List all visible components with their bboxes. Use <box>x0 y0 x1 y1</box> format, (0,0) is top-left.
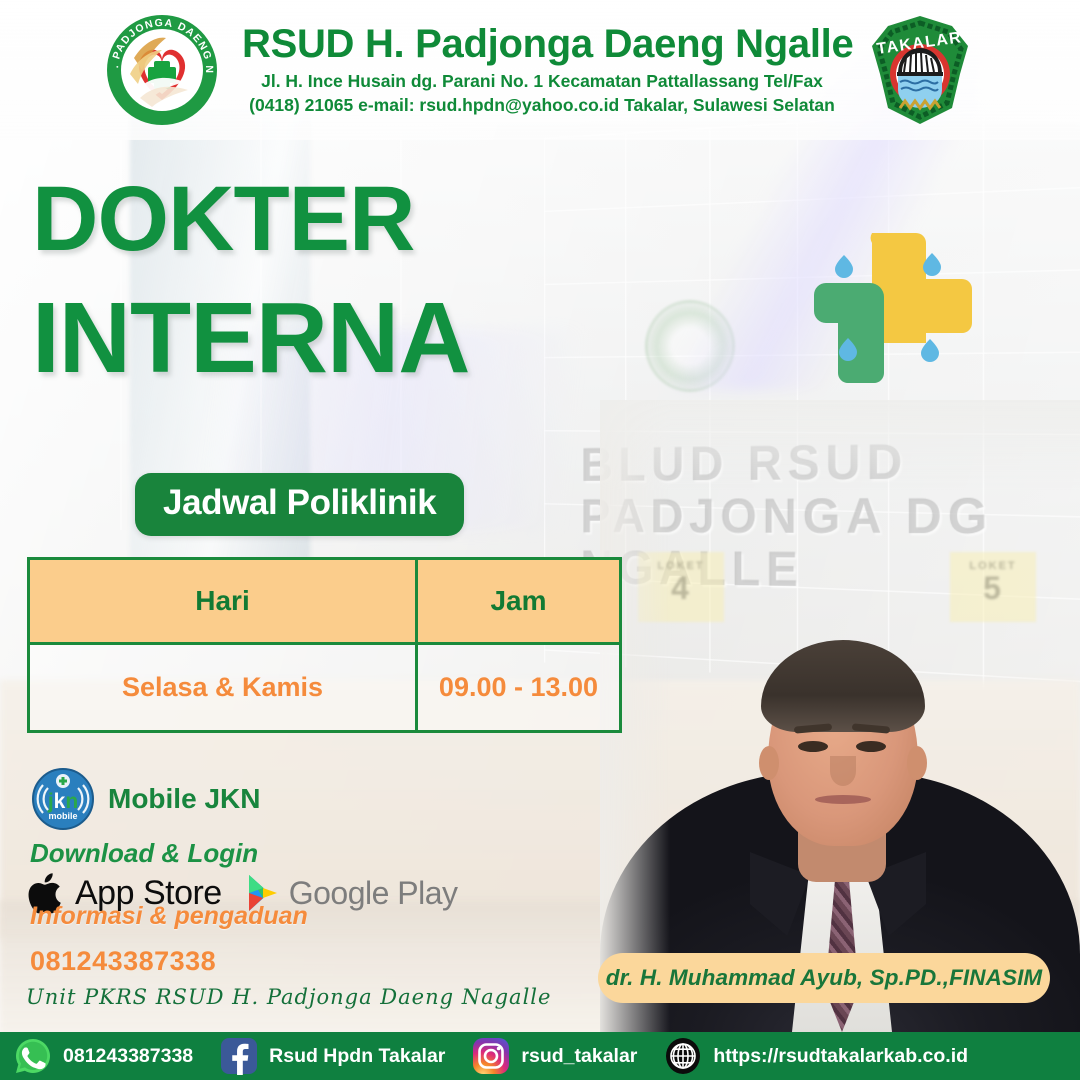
hospital-name: RSUD H. Padjonga Daeng Ngalle <box>242 23 842 65</box>
contact-phone-number: 081243387338 <box>30 946 216 977</box>
schedule-col-header-hari: Hari <box>29 559 417 644</box>
footer-item-instagram[interactable]: rsud_takalar <box>472 1037 637 1075</box>
schedule-table-body: Selasa & Kamis 09.00 - 13.00 <box>29 644 621 732</box>
rsud-hpdn-logo-icon: RSUD H. PADJONGA DAENG NGALLE · T A K A … <box>104 12 220 128</box>
schedule-col-header-jam: Jam <box>417 559 621 644</box>
doctor-eye-left <box>798 741 828 752</box>
footer-whatsapp-text: 081243387338 <box>63 1045 193 1068</box>
takalar-regency-emblem-icon: TAKALAR <box>864 12 976 128</box>
medical-cross-decoration-icon <box>800 225 990 395</box>
instagram-icon[interactable] <box>472 1037 510 1075</box>
doctor-photo-top-fade <box>600 400 1080 490</box>
page-title-line2: INTERNA <box>32 288 469 388</box>
google-play-label: Google Play <box>289 875 458 912</box>
mobile-jkn-label: Mobile JKN <box>108 783 260 815</box>
footer-item-whatsapp[interactable]: 081243387338 <box>14 1037 193 1075</box>
globe-icon[interactable] <box>664 1037 702 1075</box>
schedule-table: Hari Jam Selasa & Kamis 09.00 - 13.00 <box>27 557 622 733</box>
doctor-name-banner: dr. H. Muhammad Ayub, Sp.PD.,FINASIM <box>598 953 1050 1003</box>
doctor-nose <box>830 756 856 786</box>
mobile-jkn-row: jkn mobile Mobile JKN <box>32 768 260 830</box>
doctor-ear-left <box>759 746 779 780</box>
doctor-eye-right <box>856 741 886 752</box>
table-row: Selasa & Kamis 09.00 - 13.00 <box>29 644 621 732</box>
schedule-cell-jam: 09.00 - 13.00 <box>417 644 621 732</box>
schedule-cell-hari: Selasa & Kamis <box>29 644 417 732</box>
hospital-address-line2: (0418) 21065 e-mail: rsud.hpdn@yahoo.co.… <box>242 94 842 117</box>
header-band: RSUD H. PADJONGA DAENG NGALLE · T A K A … <box>0 0 1080 140</box>
doctor-ear-right <box>907 746 927 780</box>
doctor-hair <box>761 640 925 732</box>
jadwal-poliklinik-badge: Jadwal Poliklinik <box>135 473 464 536</box>
doctor-mouth <box>815 795 871 804</box>
schedule-header-row: Hari Jam <box>29 559 621 644</box>
informasi-pengaduan-label: Informasi & pengaduan <box>30 902 308 931</box>
footer-instagram-text: rsud_takalar <box>521 1045 637 1068</box>
page-title-line1: DOKTER <box>32 173 414 265</box>
poster-root: BLUD RSUD PADJONGA DG NGALLE LOKET 4 LOK… <box>0 0 1080 1080</box>
footer-item-facebook[interactable]: Rsud Hpdn Takalar <box>220 1037 445 1075</box>
svg-text:jkn: jkn <box>47 790 78 813</box>
hospital-address-line1: Jl. H. Ince Husain dg. Parani No. 1 Keca… <box>242 70 842 93</box>
schedule-table-head: Hari Jam <box>29 559 621 644</box>
facebook-icon[interactable] <box>220 1037 258 1075</box>
doctor-name: dr. H. Muhammad Ayub, Sp.PD.,FINASIM <box>606 965 1043 991</box>
whatsapp-icon[interactable] <box>14 1037 52 1075</box>
doctor-portrait-photo <box>600 400 1080 1032</box>
header-text-block: RSUD H. Padjonga Daeng Ngalle Jl. H. Inc… <box>242 23 842 116</box>
footer-item-website[interactable]: https://rsudtakalarkab.co.id <box>664 1037 968 1075</box>
download-login-label: Download & Login <box>30 838 258 869</box>
unit-credit-text: Unit PKRS RSUD H. Padjonga Daeng Nagalle <box>26 985 551 1009</box>
header-inner: RSUD H. PADJONGA DAENG NGALLE · T A K A … <box>104 12 976 128</box>
svg-text:mobile: mobile <box>48 811 77 821</box>
footer-bar: 081243387338 Rsud Hpdn Takalar <box>0 1032 1080 1080</box>
mobile-jkn-logo-icon: jkn mobile <box>32 768 94 830</box>
footer-facebook-text: Rsud Hpdn Takalar <box>269 1045 445 1068</box>
footer-website-text: https://rsudtakalarkab.co.id <box>713 1045 968 1068</box>
